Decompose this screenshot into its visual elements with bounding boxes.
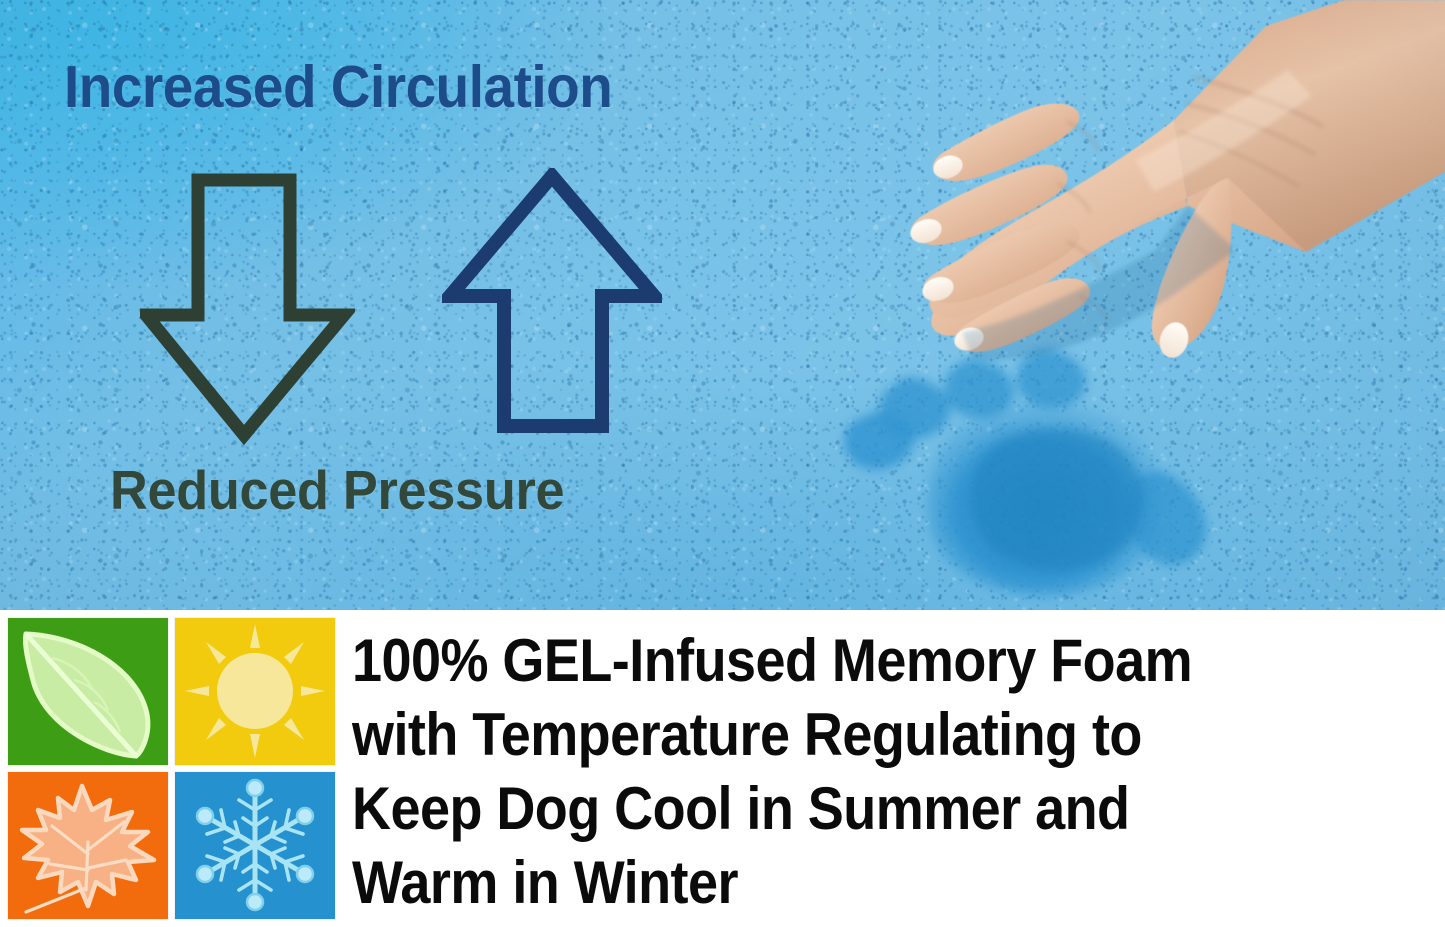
season-tile-autumn [8, 772, 168, 919]
increased-circulation-label: Increased Circulation [64, 58, 612, 117]
headline-line-2: with Temperature Regulating to [352, 698, 1329, 772]
season-icon-grid [8, 618, 335, 923]
product-headline: 100% GEL-Infused Memory Foam with Temper… [352, 624, 1437, 920]
arrow-up-icon [442, 168, 662, 436]
season-tile-spring [8, 618, 168, 765]
product-info-band: 100% GEL-Infused Memory Foam with Temper… [0, 610, 1445, 927]
snowflake-icon [175, 772, 335, 919]
reduced-pressure-label: Reduced Pressure [110, 463, 564, 518]
headline-line-1: 100% GEL-Infused Memory Foam [352, 624, 1329, 698]
leaf-icon [8, 618, 168, 765]
gel-memory-foam-photo: Increased Circulation Reduced Pressure [0, 0, 1445, 610]
maple-leaf-icon [8, 772, 168, 919]
sun-icon [175, 618, 335, 765]
season-tile-summer [175, 618, 335, 765]
product-feature-banner: Increased Circulation Reduced Pressure [0, 0, 1445, 927]
season-tile-winter [175, 772, 335, 919]
headline-line-4: Warm in Winter [352, 846, 1329, 920]
headline-line-3: Keep Dog Cool in Summer and [352, 772, 1329, 846]
arrow-down-icon [140, 170, 355, 445]
